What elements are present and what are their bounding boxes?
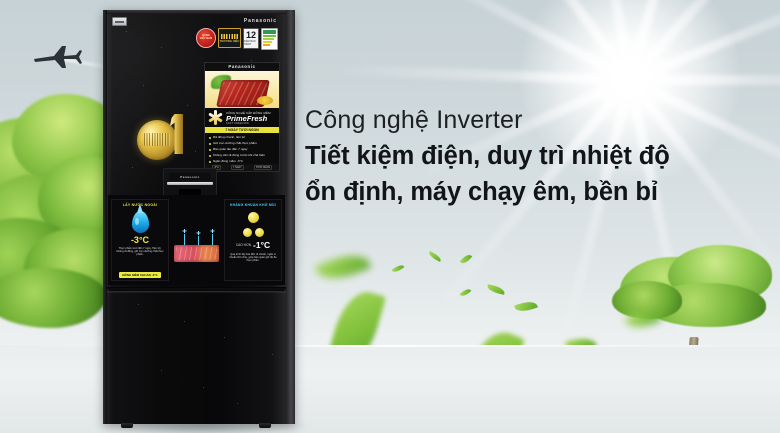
feature-info-sticker: LẤY NƯỚC NGOÀI -3°C Thực phẩm tươi đến 7… (108, 195, 285, 285)
ion-icons-row2 (243, 228, 264, 237)
list-item: Không cần rã đông trước khi chế biến (209, 154, 276, 158)
poster-meat-image (205, 71, 279, 109)
certification-badges: HÀNGVIỆT NAM THƯƠNG HIỆU 12 NĂM BẢO HÀNH (196, 28, 281, 57)
ion-icon (255, 228, 264, 237)
marketing-copy: Công nghệ Inverter Tiết kiệm điện, duy t… (305, 105, 765, 208)
refrigerator-product-image[interactable]: Panasonic HÀNGVIỆT NAM THƯƠNG HIỆU 12 NĂ… (103, 10, 295, 424)
ion-icons (248, 212, 259, 223)
dispenser-brand: Panasonic (169, 173, 211, 180)
badge-hang-viet-nam: HÀNGVIỆT NAM (196, 28, 216, 48)
corner-label-sticker (112, 17, 127, 26)
list-item: Bảo quản lâu đến 7 ngày (209, 148, 276, 152)
page-title: Công nghệ Inverter (305, 105, 765, 136)
footnote: TƯƠI NGON (254, 165, 272, 170)
snowflake-star-icon (208, 110, 223, 125)
fridge-top-cap (103, 10, 295, 14)
fridge-right-side (286, 10, 295, 424)
info-right-desc: Quá trình lấy hóa đến rõ chuẩn, ngăn vi … (225, 250, 281, 263)
info-right-antibacterial: KHÁNG KHUẨN KHỬ MÙI CAO HƠN-1°C Quá trìn… (224, 199, 282, 281)
list-item: Ngăn đông mềm -3°C (209, 160, 276, 164)
info-center-diagram (172, 229, 221, 275)
dispenser-light-bar (167, 182, 213, 185)
water-drop-icon (132, 211, 149, 233)
poster-logo-main: PrimeFresh (226, 115, 271, 123)
ion-icon (248, 212, 259, 223)
scene-stage: Panasonic HÀNGVIỆT NAM THƯƠNG HIỆU 12 NĂ… (0, 0, 780, 433)
badge-energy-label (261, 28, 278, 50)
subheadline-line-1: Tiết kiệm điện, duy trì nhiệt độ (305, 140, 765, 172)
info-right-header: KHÁNG KHUẨN KHỬ MÙI (230, 203, 276, 207)
poster-logo-foot: SOFT FREEZING (226, 122, 271, 125)
gold-medal-icon (133, 110, 189, 168)
brand-logo-top: Panasonic (244, 18, 277, 24)
meat-slab-graphic (174, 245, 219, 262)
door-handle[interactable] (109, 289, 284, 291)
list-item: Giữ trọn dưỡng chất thực phẩm (209, 142, 276, 146)
airplane-icon (28, 44, 84, 70)
fridge-left-edge (103, 10, 107, 424)
fridge-foot-left (121, 423, 133, 428)
footnote: 7 NGÀY (231, 165, 244, 170)
primefresh-logo: CÔNG NGHỆ CẤP ĐÔNG MỀM PrimeFresh SOFT F… (205, 108, 279, 127)
info-left-temp: -3°C (131, 236, 149, 245)
info-right-temp: CAO HƠN-1°C (236, 241, 270, 250)
primefresh-poster: Panasonic CÔNG NGHỆ CẤP ĐÔNG MỀM PrimeFr… (204, 62, 280, 172)
badge-award: THƯƠNG HIỆU (218, 28, 241, 48)
info-left-pill: ĐÔNG MỀM CHUẨN -3°C (119, 272, 160, 278)
info-left-desc: Thực phẩm tươi đến 7 ngày. Tiện lợi, khô… (112, 245, 168, 257)
ion-icon (243, 228, 252, 237)
list-item: Rã đông nhanh, tiện lợi (209, 136, 276, 140)
badge-warranty-12: 12 NĂM BẢO HÀNH (243, 28, 259, 49)
fridge-foot-right (259, 423, 271, 428)
subheadline-line-2: ổn định, máy chạy êm, bền bỉ (305, 176, 765, 208)
poster-brand: Panasonic (205, 63, 279, 71)
poster-feature-list: Rã đông nhanh, tiện lợi Giữ trọn dưỡng c… (205, 133, 279, 164)
info-left-water: LẤY NƯỚC NGOÀI -3°C Thực phẩm tươi đến 7… (111, 199, 169, 281)
